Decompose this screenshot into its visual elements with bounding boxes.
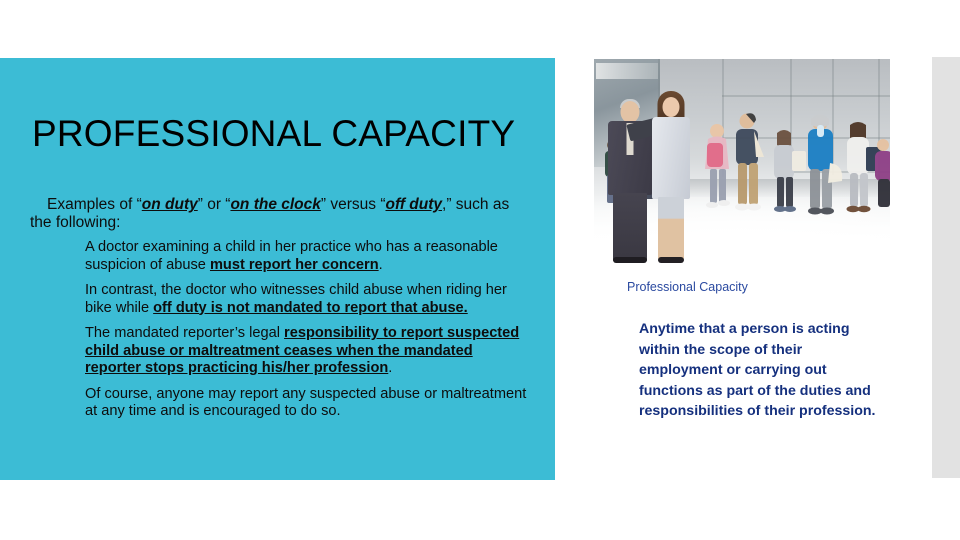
figure-caption-label: Professional Capacity <box>627 279 748 295</box>
crowd-plaza-photo <box>594 59 890 265</box>
sub-bullet-list: A doctor examining a child in her practi… <box>30 239 530 421</box>
lead-part-2: ” or “ <box>198 196 231 213</box>
figure-caption-body: Anytime that a person is acting within t… <box>639 319 889 422</box>
list-item-emphasis: must report her concern <box>210 257 379 273</box>
foreground-woman <box>648 91 694 263</box>
lead-part-1: Examples of “ <box>47 196 142 213</box>
photo-backdrop <box>594 59 890 265</box>
trousers <box>613 193 647 261</box>
head <box>621 101 640 123</box>
light-coat <box>652 117 690 199</box>
list-item-plain-lead: The mandated reporter’s legal <box>85 325 284 341</box>
emphasis-off-duty: off duty <box>385 196 442 213</box>
skirt-and-legs <box>658 197 684 259</box>
emphasis-on-duty: on duty <box>142 196 198 213</box>
list-item-plain-lead: Of course, anyone may report any suspect… <box>85 386 526 420</box>
list-item: In contrast, the doctor who witnesses ch… <box>85 282 530 317</box>
lead-paragraph: Examples of “on duty” or “on the clock” … <box>30 196 530 232</box>
list-item-plain-tail: . <box>388 360 392 376</box>
list-item: A doctor examining a child in her practi… <box>85 239 530 274</box>
list-item-plain-tail: . <box>379 257 383 273</box>
shoes <box>658 257 684 263</box>
shoes <box>613 257 647 263</box>
lead-part-3: ” versus “ <box>321 196 386 213</box>
emphasis-on-the-clock: on the clock <box>230 196 320 213</box>
list-item-emphasis: off duty is not mandated to report that … <box>153 300 468 316</box>
head <box>663 97 680 117</box>
list-item: Of course, anyone may report any suspect… <box>85 386 530 421</box>
page-title: PROFESSIONAL CAPACITY <box>32 112 532 156</box>
right-side-panel <box>932 57 960 478</box>
list-item: The mandated reporter’s legal responsibi… <box>85 325 530 378</box>
body-text-area: Examples of “on duty” or “on the clock” … <box>30 196 530 421</box>
